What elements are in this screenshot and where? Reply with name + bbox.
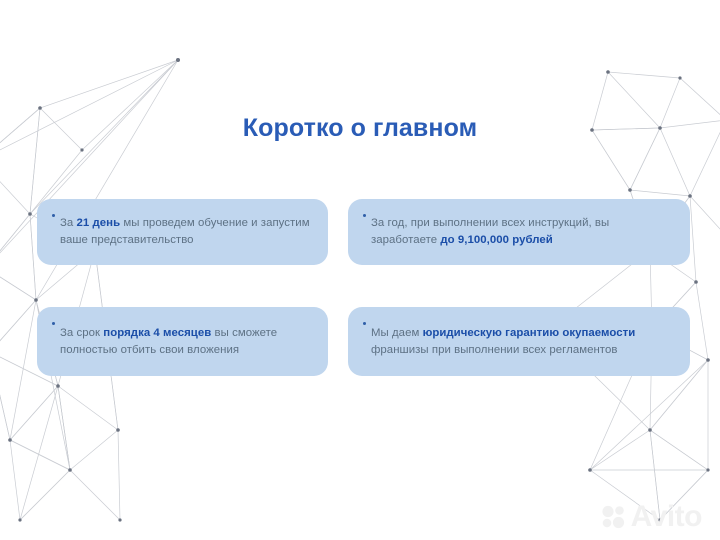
highlight-card-yearly-income: За год, при выполнении всех инструкций, … — [348, 199, 690, 265]
highlight-card-text: За срок порядка 4 месяцев вы сможете пол… — [60, 325, 312, 358]
highlight-card-text: За 21 день мы проведем обучение и запуст… — [60, 215, 312, 248]
page-title: Коротко о главном — [0, 114, 720, 143]
highlight-card-payback-period: За срок порядка 4 месяцев вы сможете пол… — [37, 307, 328, 376]
highlight-card-text: За год, при выполнении всех инструкций, … — [371, 215, 674, 248]
slide-canvas: Коротко о главном За 21 день мы проведем… — [0, 0, 720, 540]
avito-watermark: Avito — [601, 502, 702, 532]
bullet-icon — [357, 322, 371, 325]
highlight-card-term-training: За 21 день мы проведем обучение и запуст… — [37, 199, 328, 265]
bullet-icon — [357, 214, 371, 217]
highlight-card-legal-guarantee: Мы даем юридическую гарантию окупаемости… — [348, 307, 690, 376]
bullet-icon — [46, 322, 60, 325]
avito-wordmark: Avito — [631, 502, 702, 532]
highlight-card-text: Мы даем юридическую гарантию окупаемости… — [371, 325, 674, 358]
bullet-icon — [46, 214, 60, 217]
avito-logo-icon — [601, 505, 627, 529]
highlights-grid: За 21 день мы проведем обучение и запуст… — [37, 199, 690, 376]
